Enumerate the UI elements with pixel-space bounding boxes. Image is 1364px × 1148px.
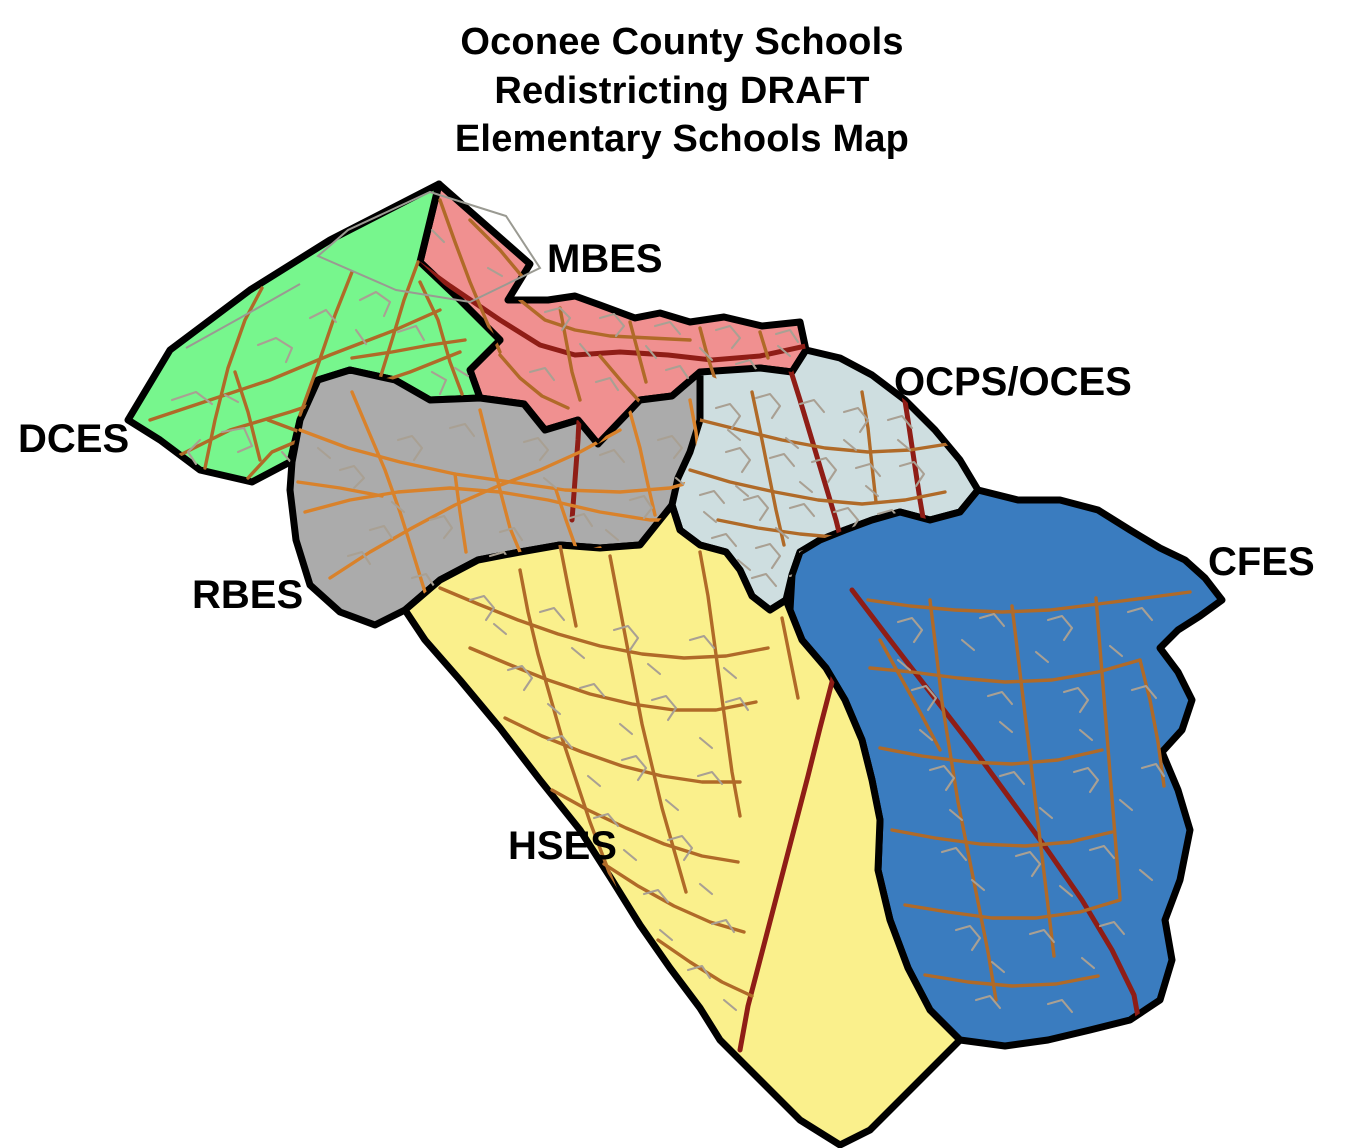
label-ocps-oces: OCPS/OCES [894, 360, 1132, 404]
label-mbes: MBES [547, 237, 663, 281]
label-dces: DCES [18, 417, 129, 461]
label-rbes: RBES [192, 573, 303, 617]
label-cfes: CFES [1208, 540, 1315, 584]
county-map: DCES MBES RBES OCPS/OCES CFES HSES [0, 0, 1364, 1148]
label-hses: HSES [508, 824, 617, 868]
map-page: Oconee County Schools Redistricting DRAF… [0, 0, 1364, 1148]
